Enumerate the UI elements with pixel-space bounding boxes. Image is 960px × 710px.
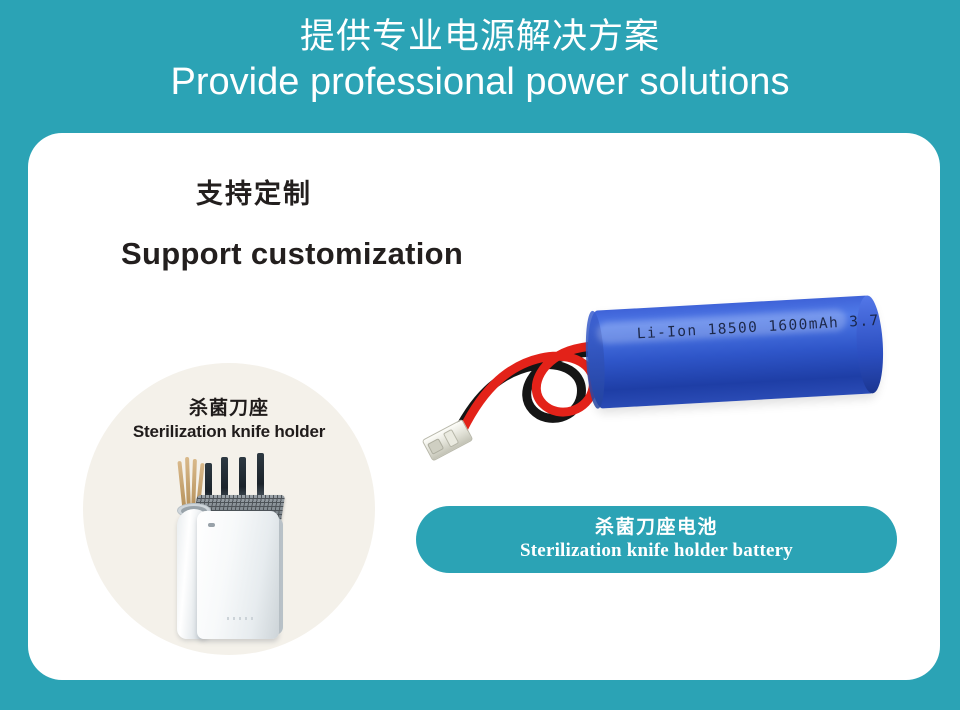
- product-name-cn: 杀菌刀座电池: [595, 516, 718, 539]
- header-title-cn: 提供专业电源解决方案: [0, 16, 960, 58]
- content-card: 支持定制 Support customization 杀菌刀座 Steriliz…: [28, 133, 940, 680]
- knife-holder-icon: [161, 467, 311, 647]
- knife-holder-caption-cn: 杀菌刀座: [83, 397, 375, 421]
- slide-root: 提供专业电源解决方案 Provide professional power so…: [0, 0, 960, 710]
- knife-holder-showcase: 杀菌刀座 Sterilization knife holder: [83, 363, 375, 655]
- customization-block: 支持定制 Support customization: [196, 177, 463, 273]
- product-name-pill: 杀菌刀座电池 Sterilization knife holder batter…: [416, 506, 897, 573]
- knife-holder-caption: 杀菌刀座 Sterilization knife holder: [83, 397, 375, 443]
- header-title-en: Provide professional power solutions: [0, 58, 960, 106]
- customization-title-cn: 支持定制: [196, 177, 463, 211]
- header: 提供专业电源解决方案 Provide professional power so…: [0, 16, 960, 106]
- battery-cell: Li-Ion 18500 1600mAh 3.7: [585, 295, 882, 409]
- battery-image: Li-Ion 18500 1600mAh 3.7: [413, 278, 913, 478]
- holder-vent: [227, 617, 257, 620]
- product-name-en: Sterilization knife holder battery: [520, 539, 793, 563]
- customization-title-en: Support customization: [121, 235, 463, 273]
- knife-holder-caption-en: Sterilization knife holder: [83, 421, 375, 443]
- indicator-led-icon: [208, 523, 215, 527]
